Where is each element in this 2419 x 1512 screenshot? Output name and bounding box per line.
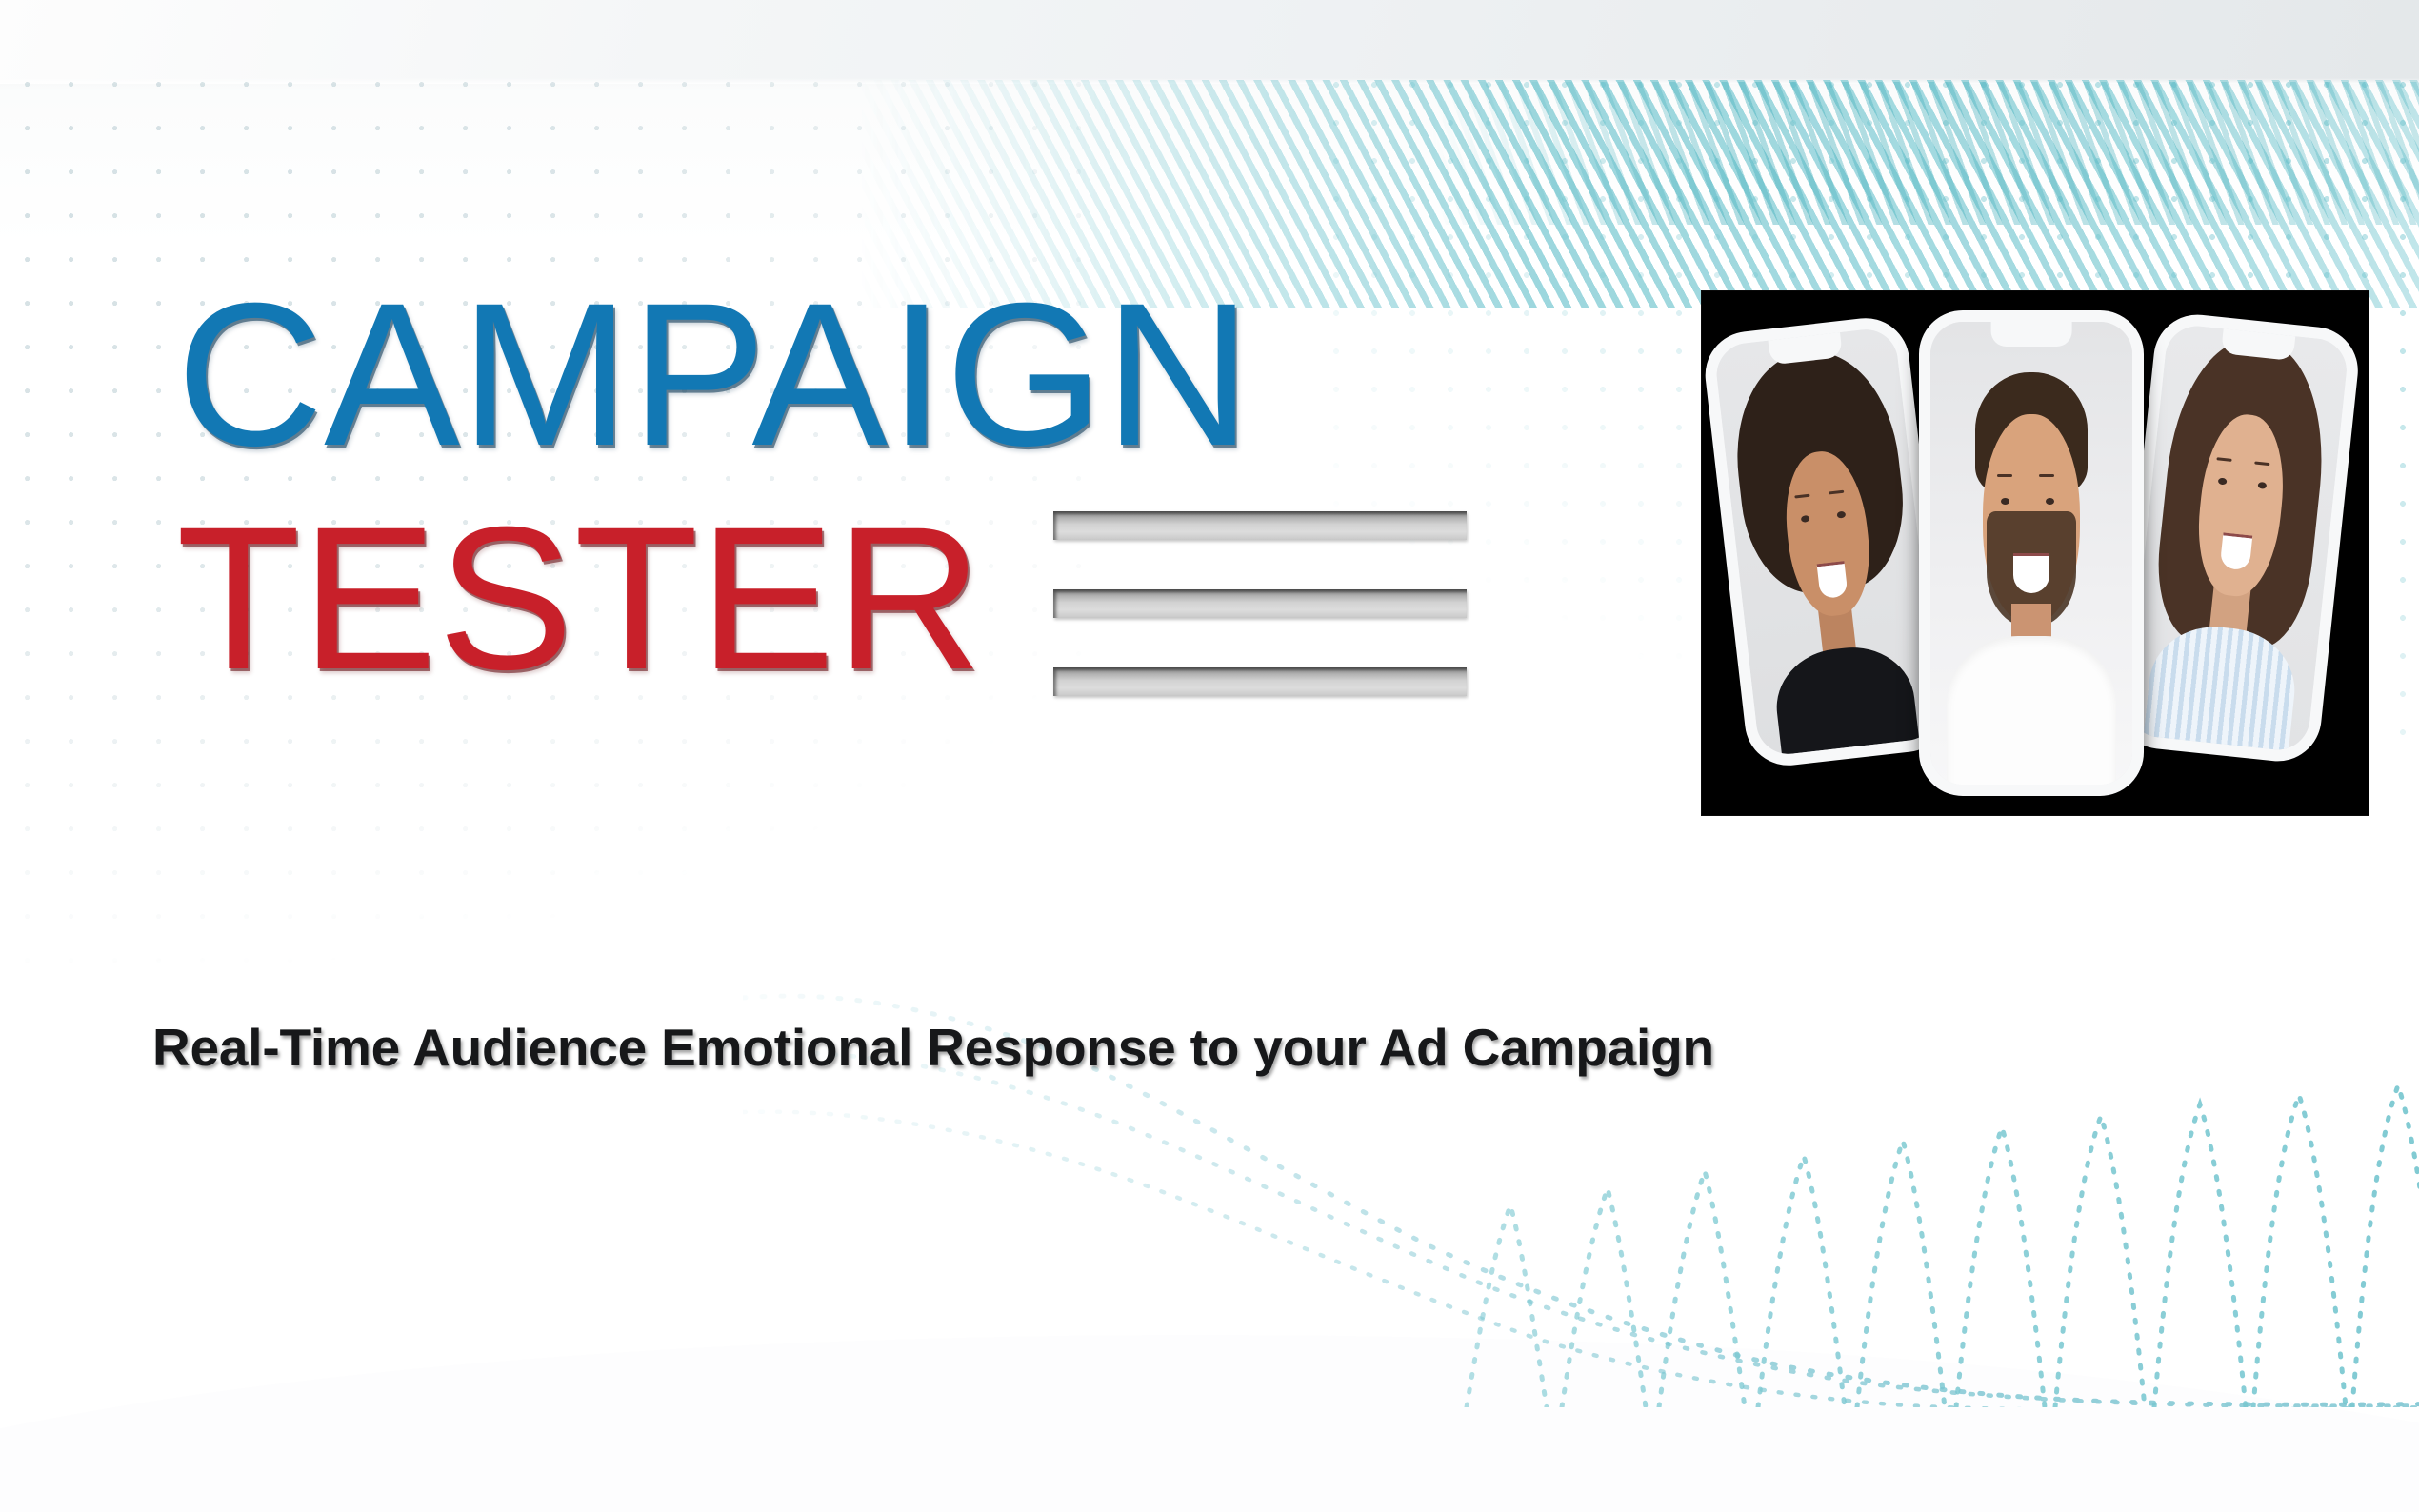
- brand-word-campaign: CAMPAIGN: [176, 282, 1605, 469]
- brand-second-row: TESTER: [176, 504, 1605, 696]
- portrait-man-beard: [1930, 322, 2132, 785]
- brand-bar-3: [1053, 667, 1467, 696]
- diagonal-dash-pattern-secondary-icon: [1429, 82, 2419, 225]
- phone-middle: [1919, 310, 2144, 796]
- brand-word-tester: TESTER: [176, 506, 983, 693]
- phone-screen-left: [1713, 327, 1941, 758]
- phone-notch-middle-icon: [1991, 322, 2072, 347]
- tagline-text: Real-Time Audience Emotional Response to…: [152, 1017, 1714, 1078]
- background-top-band: [0, 0, 2419, 84]
- portrait-woman-long-hair: [2126, 323, 2349, 753]
- brand-logo: CAMPAIGN TESTER: [176, 282, 1605, 815]
- phone-montage-image: [1702, 291, 2369, 815]
- slide-canvas: CAMPAIGN TESTER: [0, 0, 2419, 1512]
- phone-left: [1702, 313, 1953, 769]
- phone-screen-middle: [1930, 322, 2132, 785]
- portrait-woman-curly-hair: [1713, 327, 1941, 758]
- brand-bar-1: [1053, 511, 1467, 540]
- phone-screen-right: [2126, 323, 2349, 753]
- brand-bars-group: [1053, 511, 1467, 696]
- brand-bar-2: [1053, 589, 1467, 618]
- phone-right: [2113, 310, 2363, 766]
